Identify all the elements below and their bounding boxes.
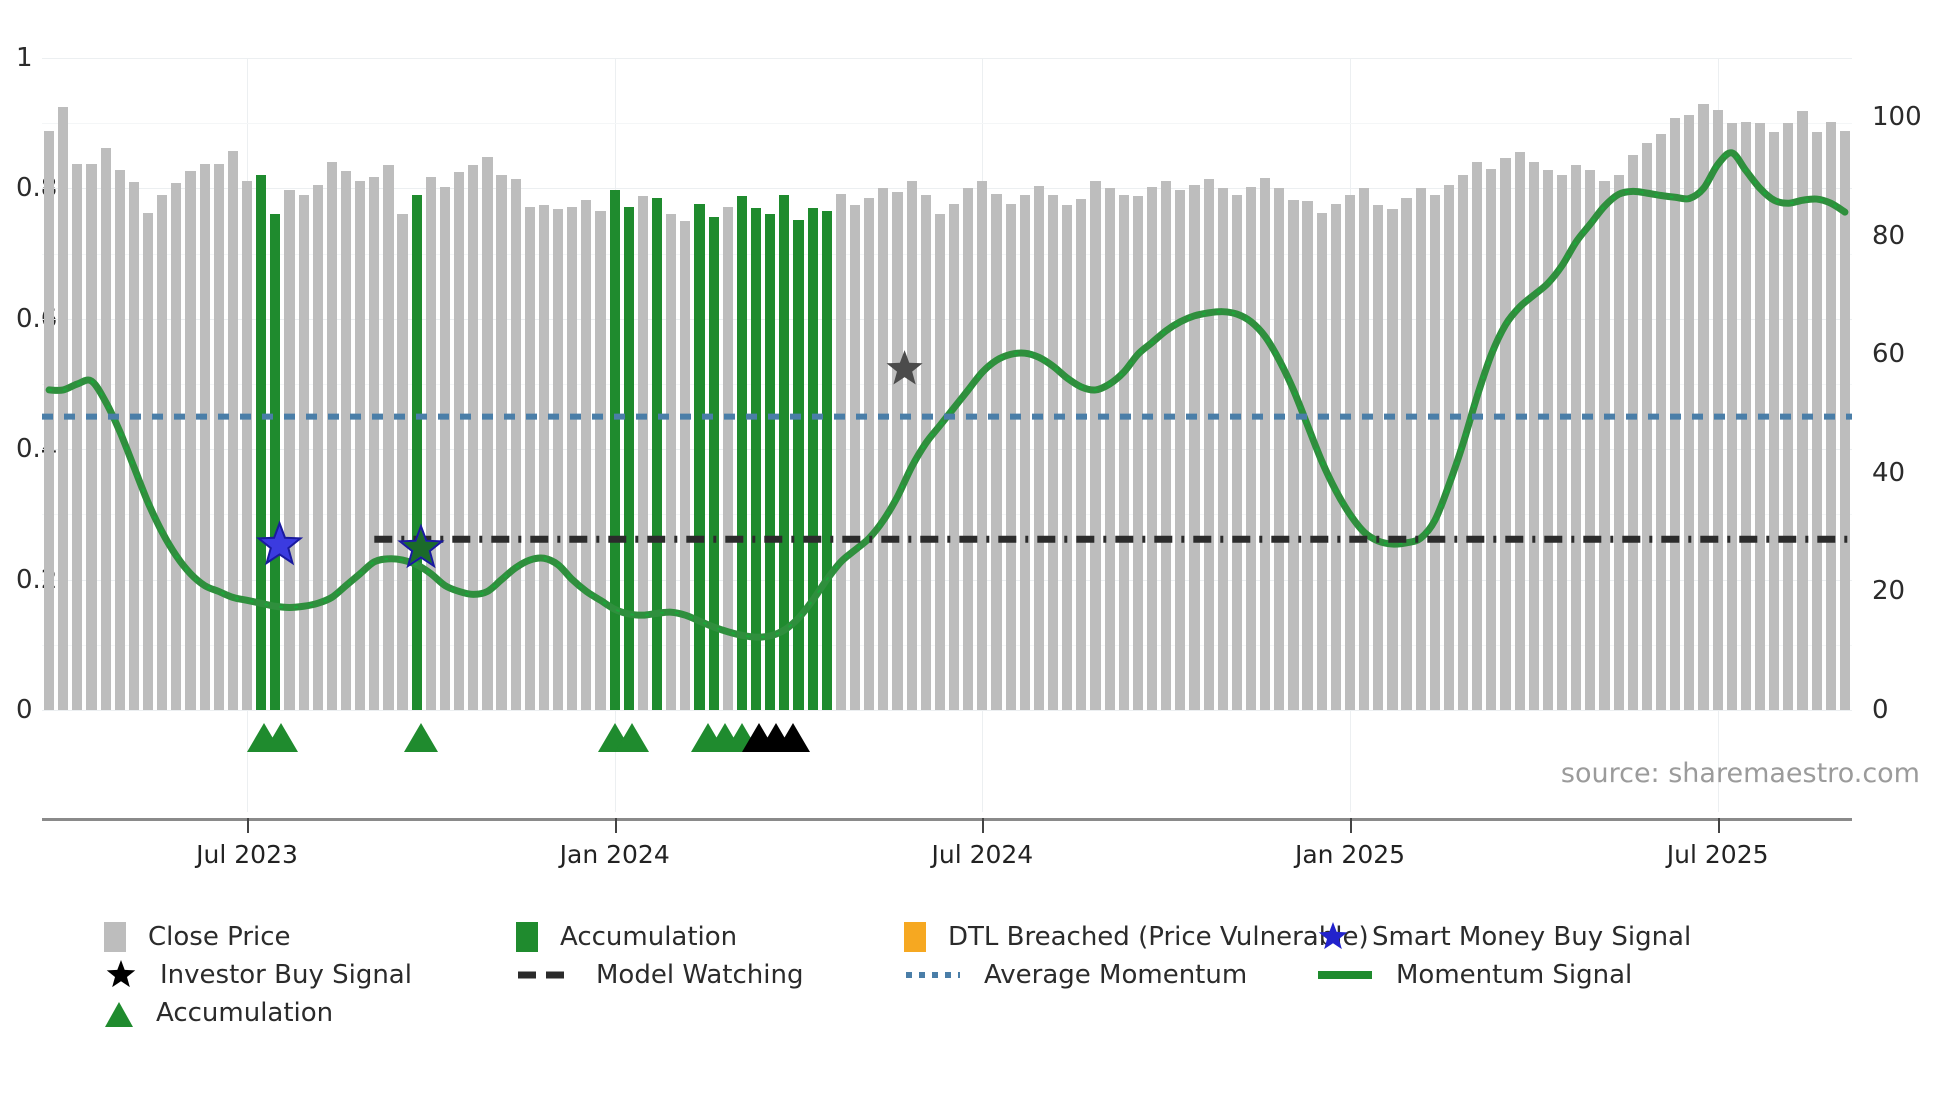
close-price-bar[interactable] [496,175,506,710]
close-price-bar[interactable] [680,221,690,710]
close-price-bar[interactable] [1713,110,1723,710]
legend-label: Average Momentum [984,960,1247,990]
close-price-bar[interactable] [1359,188,1369,710]
legend-star-icon [1316,921,1350,953]
close-price-bar[interactable] [1161,181,1171,710]
close-price-bar[interactable] [878,188,888,710]
close-price-bar[interactable] [1642,143,1652,710]
accumulation-bar[interactable] [779,195,789,710]
close-price-bar[interactable] [892,192,902,710]
close-price-bar[interactable] [581,200,591,710]
close-price-bar[interactable] [72,164,82,710]
close-price-bar[interactable] [1260,178,1270,710]
legend-item-average-momentum[interactable]: Average Momentum [904,956,1247,994]
close-price-bar[interactable] [1698,104,1708,710]
close-price-bar[interactable] [1571,165,1581,710]
close-price-bar[interactable] [1472,162,1482,710]
legend-item-investor-buy[interactable]: Investor Buy Signal [104,956,412,994]
close-price-bar[interactable] [185,171,195,710]
legend-square-swatch-icon [904,922,926,952]
chart-root: 00.20.40.60.81 020406080100 Jul 2023Jan … [0,0,1960,1102]
y-tick-label-left: 1 [16,43,33,73]
close-price-bar[interactable] [440,187,450,710]
source-watermark: source: sharemaestro.com [1561,758,1920,789]
accumulation-bar[interactable] [610,190,620,710]
accumulation-bar[interactable] [751,208,761,710]
close-price-bar[interactable] [1246,187,1256,710]
close-price-bar[interactable] [1614,175,1624,710]
accumulation-triangle-marker[interactable] [264,723,298,752]
close-price-bar[interactable] [327,162,337,710]
close-price-bar[interactable] [1147,187,1157,710]
legend-item-dtl-breached[interactable]: DTL Breached (Price Vulnerable) [904,918,1369,956]
accumulation-triangle-marker[interactable] [615,723,649,752]
legend-line-icon [904,960,962,990]
x-tick-mark [1718,818,1720,833]
close-price-bar[interactable] [921,195,931,710]
legend-label: Accumulation [560,922,737,952]
legend-square-swatch-icon [516,922,538,952]
close-price-bar[interactable] [369,177,379,710]
close-price-bar[interactable] [1274,188,1284,710]
y-tick-label-left: 0 [16,695,33,725]
close-price-bar[interactable] [949,204,959,710]
close-price-bar[interactable] [1288,200,1298,710]
close-price-bar[interactable] [1345,195,1355,710]
legend-item-model-watching[interactable]: Model Watching [516,956,803,994]
close-price-bar[interactable] [1769,132,1779,710]
close-price-bar[interactable] [963,188,973,710]
plot-area [42,58,1852,710]
accumulation-bar[interactable] [270,214,280,710]
close-price-bar[interactable] [1034,186,1044,710]
close-price-bar[interactable] [1090,181,1100,710]
close-price-bar[interactable] [511,179,521,710]
legend-triangle-icon [104,998,134,1028]
close-price-bar[interactable] [836,194,846,710]
x-tick-label: Jan 2025 [1295,840,1405,869]
close-price-bar[interactable] [143,213,153,710]
close-price-bar[interactable] [214,164,224,710]
close-price-bar[interactable] [171,183,181,710]
legend-label: Accumulation [156,998,333,1028]
close-price-bar[interactable] [1387,209,1397,710]
x-tick-label: Jul 2025 [1667,840,1769,869]
legend-item-close-price[interactable]: Close Price [104,918,291,956]
close-price-bar[interactable] [1218,188,1228,710]
legend-label: Investor Buy Signal [160,960,412,990]
close-price-bar[interactable] [1119,195,1129,710]
close-price-bar[interactable] [1543,170,1553,710]
y-tick-label-right: 40 [1872,458,1905,488]
x-tick-label: Jan 2024 [560,840,670,869]
x-axis-line [42,818,1852,821]
close-price-bar[interactable] [539,205,549,710]
close-price-bar[interactable] [1458,175,1468,710]
accumulation-triangle-marker[interactable] [776,723,810,752]
close-price-bar[interactable] [1557,175,1567,710]
close-price-bar[interactable] [397,214,407,710]
accumulation-bar[interactable] [737,196,747,710]
close-price-bar[interactable] [1797,111,1807,710]
close-price-bar[interactable] [1430,195,1440,710]
close-price-bar[interactable] [1515,152,1525,710]
y-tick-label-right: 80 [1872,221,1905,251]
x-tick-label: Jul 2023 [196,840,298,869]
legend-label: Smart Money Buy Signal [1372,922,1691,952]
close-price-bar[interactable] [666,214,676,710]
close-price-bar[interactable] [482,157,492,710]
close-price-bar[interactable] [864,198,874,710]
close-price-bar[interactable] [157,195,167,710]
accumulation-bar[interactable] [808,208,818,710]
close-price-bar[interactable] [1529,162,1539,710]
close-price-bar[interactable] [1006,204,1016,710]
close-price-bar[interactable] [1741,122,1751,710]
legend-line-icon [516,960,574,990]
close-price-bar[interactable] [1416,188,1426,710]
legend-label: DTL Breached (Price Vulnerable) [948,922,1369,952]
close-price-bar[interactable] [1204,179,1214,710]
close-price-bar[interactable] [991,194,1001,710]
close-price-bar[interactable] [228,151,238,710]
legend-star-icon [104,959,138,991]
y-tick-label-right: 0 [1872,695,1889,725]
close-price-bar[interactable] [1755,123,1765,710]
close-price-bar[interactable] [907,181,917,710]
close-price-bar[interactable] [341,171,351,710]
close-price-bar[interactable] [1189,185,1199,711]
accumulation-bar[interactable] [412,195,422,710]
close-price-bar[interactable] [1175,190,1185,710]
close-price-bar[interactable] [242,181,252,710]
bar-series-close-price[interactable] [42,58,1852,710]
accumulation-bar[interactable] [652,198,662,710]
accumulation-bar[interactable] [694,204,704,710]
close-price-bar[interactable] [1076,199,1086,710]
close-price-bar[interactable] [313,185,323,711]
close-price-bar[interactable] [1317,213,1327,710]
close-price-bar[interactable] [1670,118,1680,710]
close-price-bar[interactable] [553,209,563,710]
close-price-bar[interactable] [101,148,111,710]
legend-row: Accumulation [104,994,1904,1032]
close-price-bar[interactable] [1684,115,1694,710]
close-price-bar[interactable] [1486,169,1496,710]
accumulation-bar[interactable] [793,220,803,710]
close-price-bar[interactable] [1302,201,1312,710]
legend-row: Close PriceAccumulationDTL Breached (Pri… [104,918,1904,956]
y-tick-label-right: 60 [1872,339,1905,369]
accumulation-bar[interactable] [822,211,832,710]
close-price-bar[interactable] [1373,205,1383,710]
legend-row: Investor Buy SignalModel WatchingAverage… [104,956,1904,994]
close-price-bar[interactable] [1628,155,1638,711]
close-price-bar[interactable] [1500,158,1510,710]
accumulation-triangle-marker[interactable] [404,723,438,752]
close-price-bar[interactable] [299,195,309,710]
close-price-bar[interactable] [1062,205,1072,710]
close-price-bar[interactable] [1783,123,1793,710]
close-price-bar[interactable] [935,214,945,710]
close-price-bar[interactable] [115,170,125,710]
close-price-bar[interactable] [1840,131,1850,710]
accumulation-bar[interactable] [709,217,719,710]
close-price-bar[interactable] [850,205,860,710]
accumulation-bar[interactable] [256,175,266,710]
chart-legend: Close PriceAccumulationDTL Breached (Pri… [104,918,1904,1032]
close-price-bar[interactable] [86,164,96,710]
close-price-bar[interactable] [426,177,436,710]
close-price-bar[interactable] [1105,188,1115,710]
close-price-bar[interactable] [58,107,68,710]
legend-label: Close Price [148,922,291,952]
close-price-bar[interactable] [200,164,210,710]
legend-item-accumulation-bar[interactable]: Accumulation [516,918,737,956]
close-price-bar[interactable] [454,172,464,710]
x-tick-mark [247,818,249,833]
close-price-bar[interactable] [1020,195,1030,710]
close-price-bar[interactable] [723,207,733,710]
close-price-bar[interactable] [284,190,294,710]
close-price-bar[interactable] [44,131,54,710]
legend-square-swatch-icon [104,922,126,952]
x-tick-mark [615,818,617,833]
legend-line-icon [1316,960,1374,990]
accumulation-bar[interactable] [624,207,634,710]
close-price-bar[interactable] [383,165,393,710]
close-price-bar[interactable] [567,207,577,710]
x-tick-mark [1350,818,1352,833]
close-price-bar[interactable] [1585,170,1595,710]
legend-label: Momentum Signal [1396,960,1632,990]
y-tick-label-right: 100 [1872,102,1922,132]
accumulation-bar[interactable] [765,214,775,710]
legend-item-smart-money-buy[interactable]: Smart Money Buy Signal [1316,918,1691,956]
close-price-bar[interactable] [1656,134,1666,710]
close-price-bar[interactable] [1826,122,1836,710]
x-tick-label: Jul 2024 [931,840,1033,869]
close-price-bar[interactable] [1401,198,1411,710]
legend-item-accumulation-tri[interactable]: Accumulation [104,994,333,1032]
close-price-bar[interactable] [1331,204,1341,710]
close-price-bar[interactable] [1812,132,1822,710]
accumulation-triangle-row [42,712,1852,760]
gridline [42,710,1852,711]
close-price-bar[interactable] [1232,195,1242,710]
close-price-bar[interactable] [1133,196,1143,710]
close-price-bar[interactable] [595,211,605,710]
y-tick-label-right: 20 [1872,576,1905,606]
close-price-bar[interactable] [468,165,478,710]
close-price-bar[interactable] [977,181,987,710]
close-price-bar[interactable] [1444,185,1454,711]
close-price-bar[interactable] [525,207,535,710]
legend-label: Model Watching [596,960,803,990]
close-price-bar[interactable] [129,182,139,710]
close-price-bar[interactable] [638,196,648,710]
close-price-bar[interactable] [1048,195,1058,710]
close-price-bar[interactable] [355,181,365,710]
close-price-bar[interactable] [1599,181,1609,710]
x-tick-mark [982,818,984,833]
legend-item-momentum-signal[interactable]: Momentum Signal [1316,956,1632,994]
close-price-bar[interactable] [1727,123,1737,710]
